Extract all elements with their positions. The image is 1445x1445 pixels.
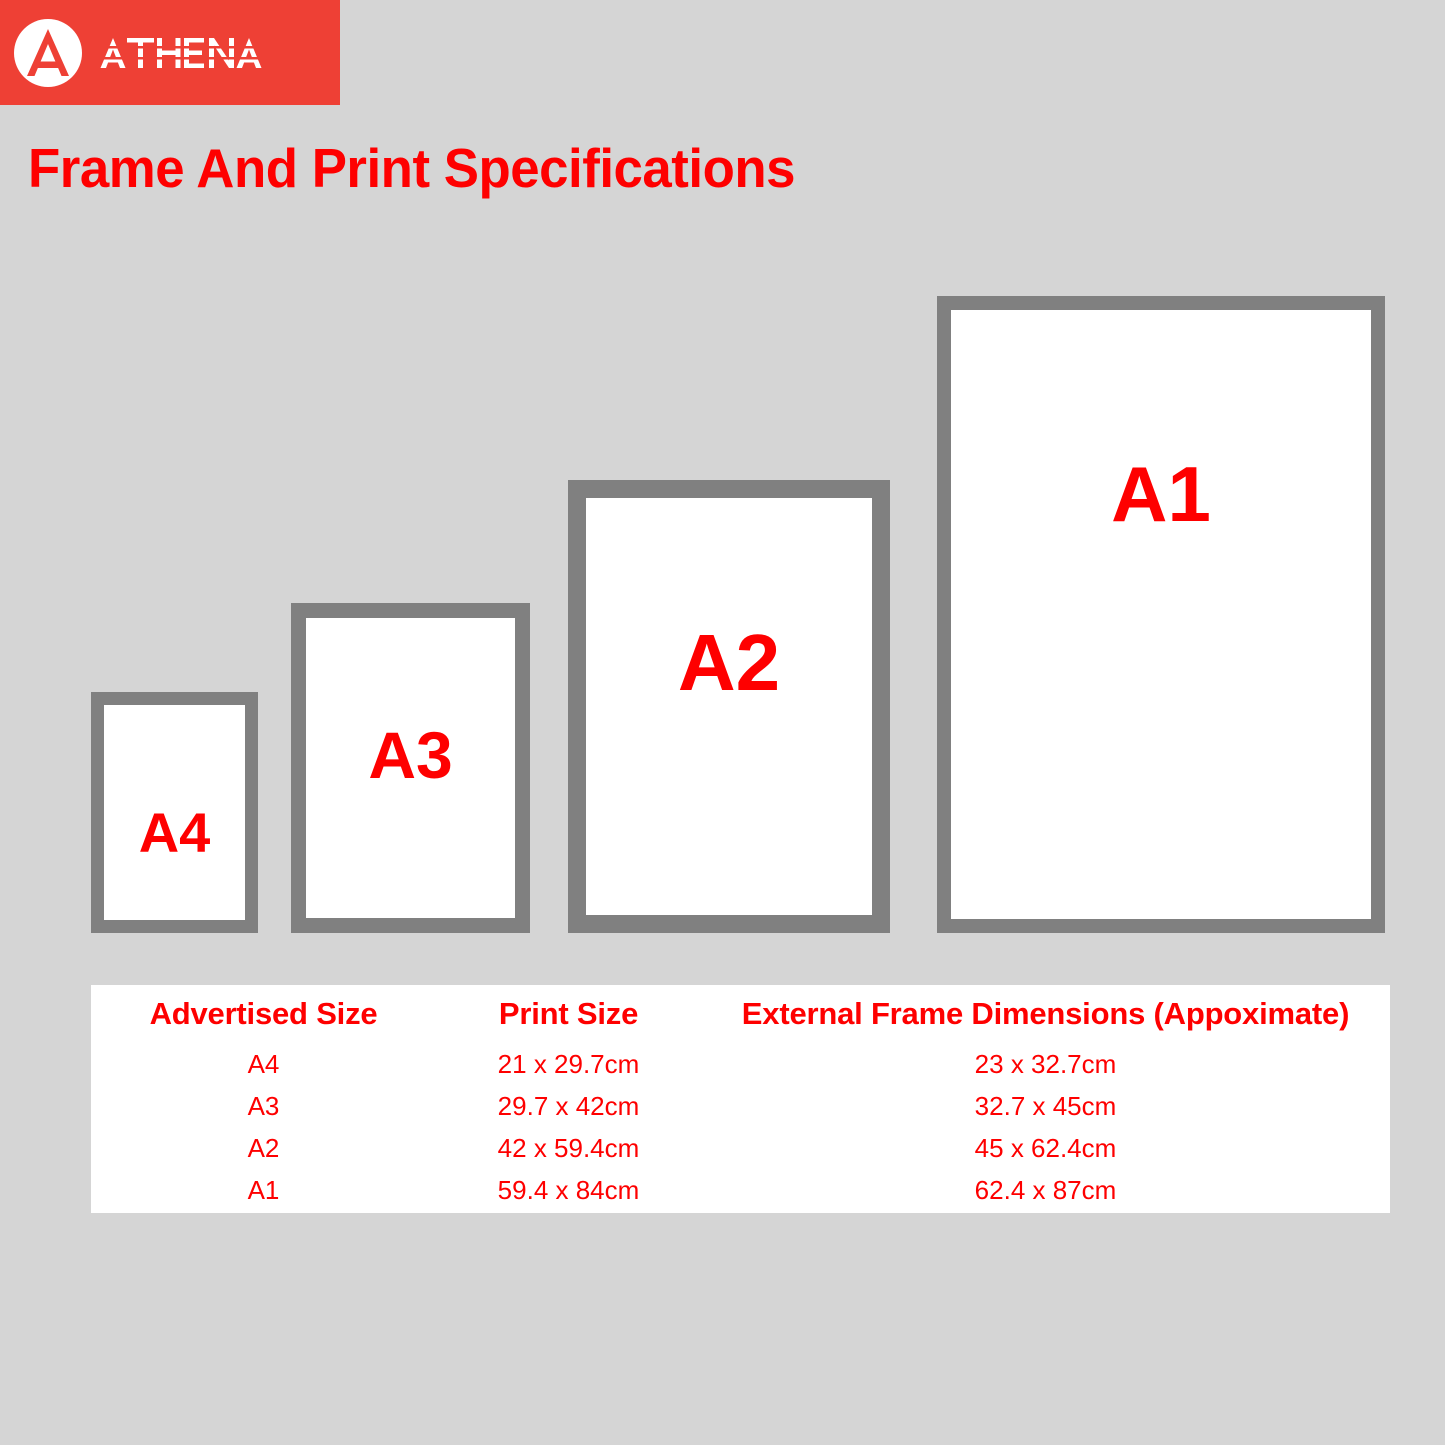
athena-triangle-a-logo-icon	[12, 17, 84, 89]
spec-table-head: Advertised Size Print Size External Fram…	[91, 985, 1390, 1043]
frame-label-a4: A4	[104, 805, 245, 861]
cell-print-size: 29.7 x 42cm	[436, 1085, 701, 1127]
frame-label-a2: A2	[586, 623, 872, 703]
spec-table-element: Advertised Size Print Size External Fram…	[91, 985, 1390, 1211]
frame-label-a3: A3	[306, 722, 515, 788]
cell-advertised-size: A3	[91, 1085, 436, 1127]
cell-print-size: 21 x 29.7cm	[436, 1043, 701, 1085]
frame-label-a1: A1	[951, 455, 1371, 533]
cell-advertised-size: A4	[91, 1043, 436, 1085]
spec-table-header-row: Advertised Size Print Size External Fram…	[91, 985, 1390, 1043]
cell-print-size: 42 x 59.4cm	[436, 1127, 701, 1169]
specifications-table: Advertised Size Print Size External Fram…	[91, 985, 1390, 1213]
cell-external-frame: 62.4 x 87cm	[701, 1169, 1390, 1211]
column-header-print-size: Print Size	[436, 985, 701, 1043]
table-row: A1 59.4 x 84cm 62.4 x 87cm	[91, 1169, 1390, 1211]
brand-wordmark	[98, 33, 263, 73]
frame-sample-a2: A2	[568, 480, 890, 933]
column-header-external-frame-dimensions: External Frame Dimensions (Appoximate)	[701, 985, 1390, 1043]
cell-print-size: 59.4 x 84cm	[436, 1169, 701, 1211]
page-title: Frame And Print Specifications	[28, 141, 795, 196]
frame-sample-a4: A4	[91, 692, 258, 933]
frame-sample-a3: A3	[291, 603, 530, 933]
frame-sample-a1: A1	[937, 296, 1385, 933]
column-header-advertised-size: Advertised Size	[91, 985, 436, 1043]
spec-table-body: A4 21 x 29.7cm 23 x 32.7cm A3 29.7 x 42c…	[91, 1043, 1390, 1211]
table-row: A3 29.7 x 42cm 32.7 x 45cm	[91, 1085, 1390, 1127]
cell-external-frame: 32.7 x 45cm	[701, 1085, 1390, 1127]
table-row: A4 21 x 29.7cm 23 x 32.7cm	[91, 1043, 1390, 1085]
cell-advertised-size: A1	[91, 1169, 436, 1211]
cell-advertised-size: A2	[91, 1127, 436, 1169]
brand-banner: ATHENA	[0, 0, 340, 105]
cell-external-frame: 23 x 32.7cm	[701, 1043, 1390, 1085]
cell-external-frame: 45 x 62.4cm	[701, 1127, 1390, 1169]
table-row: A2 42 x 59.4cm 45 x 62.4cm	[91, 1127, 1390, 1169]
